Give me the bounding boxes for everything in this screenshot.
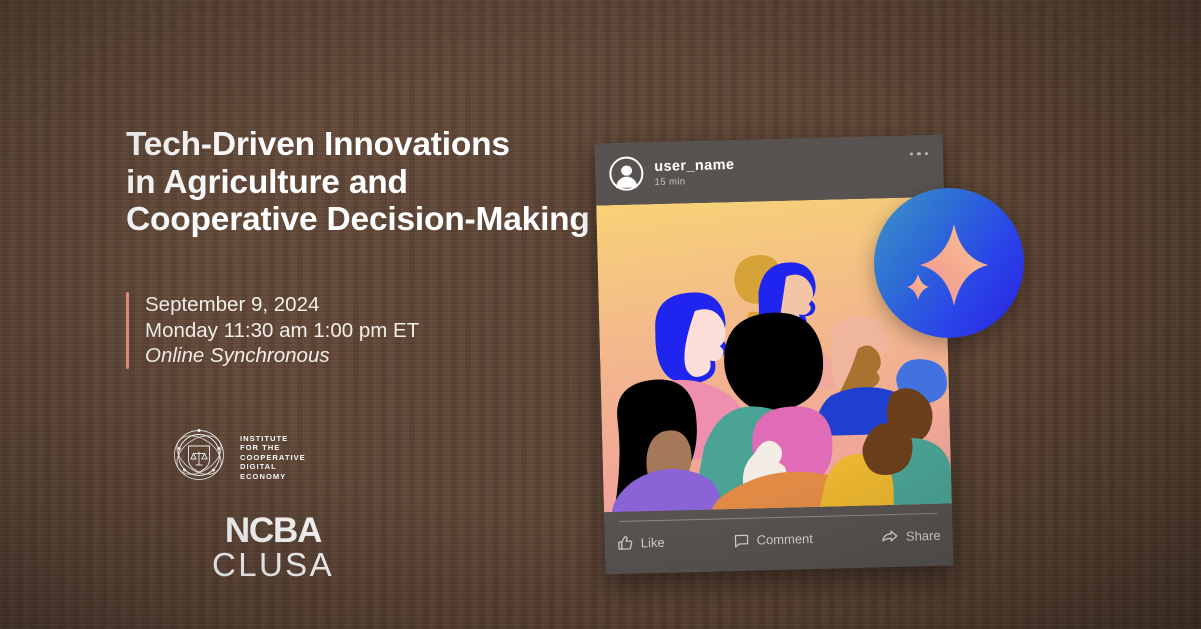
accent-bar [126, 292, 129, 369]
icde-logo-text: INSTITUTE FOR THE COOPERATIVE DIGITAL EC… [240, 434, 306, 482]
icde-line-5: ECONOMY [240, 472, 306, 482]
post-user-meta: user_name 15 min [654, 156, 735, 187]
avatar-body-shape [616, 176, 637, 188]
share-arrow-icon [881, 527, 899, 545]
icde-line-3: COOPERATIVE [240, 453, 306, 463]
actions-divider [619, 513, 937, 522]
share-button[interactable]: Share [881, 526, 941, 546]
event-details-text: September 9, 2024 Monday 11:30 am 1:00 p… [145, 292, 419, 369]
comment-button[interactable]: Comment [732, 530, 813, 549]
left-content-column: Tech-Driven Innovations in Agriculture a… [126, 126, 596, 239]
ncba-wordmark: NCBA [168, 514, 378, 548]
speech-bubble-icon [732, 531, 749, 548]
more-options-icon[interactable] [910, 152, 928, 156]
clusa-wordmark: CLUSA [168, 548, 378, 582]
event-date: September 9, 2024 [145, 292, 419, 318]
title-line-3: Cooperative Decision-Making [126, 201, 596, 239]
comment-label: Comment [756, 531, 813, 547]
user-avatar-icon[interactable] [609, 156, 644, 191]
dot-2 [917, 152, 920, 155]
event-time: Monday 11:30 am 1:00 pm ET [145, 318, 419, 344]
post-username[interactable]: user_name [654, 156, 735, 174]
title-line-1: Tech-Driven Innovations [126, 126, 596, 164]
post-actions-bar: Like Comment Share [604, 504, 953, 575]
sparkle-icon [874, 188, 1024, 338]
share-label: Share [906, 527, 941, 543]
dot-3 [925, 152, 928, 155]
like-button[interactable]: Like [617, 533, 665, 551]
thumbs-up-icon [617, 534, 634, 551]
ai-sparkle-badge[interactable] [874, 188, 1024, 338]
like-label: Like [641, 534, 665, 550]
avatar-head-shape [621, 165, 632, 176]
icde-line-1: INSTITUTE [240, 434, 306, 444]
ncba-clusa-logo: NCBA CLUSA [168, 514, 378, 582]
icde-line-4: DIGITAL [240, 462, 306, 472]
icde-line-2: FOR THE [240, 443, 306, 453]
scales-shield-circle-icon [170, 426, 228, 489]
page-title: Tech-Driven Innovations in Agriculture a… [126, 126, 596, 239]
dot-1 [910, 152, 913, 155]
post-timestamp: 15 min [654, 174, 734, 187]
icde-logo: INSTITUTE FOR THE COOPERATIVE DIGITAL EC… [170, 426, 306, 489]
event-format: Online Synchronous [145, 343, 419, 369]
title-line-2: in Agriculture and [126, 164, 596, 202]
event-details-block: September 9, 2024 Monday 11:30 am 1:00 p… [126, 292, 419, 369]
